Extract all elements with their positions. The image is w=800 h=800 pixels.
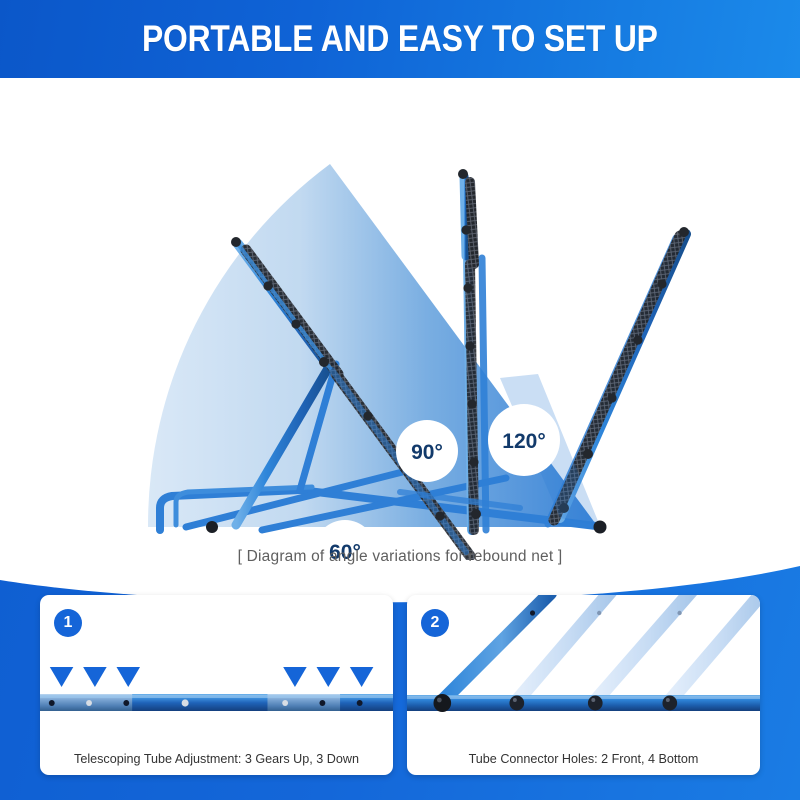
angle-badge-120-label: 120° <box>502 430 545 453</box>
angle-diagram: 60° 90° 120° <box>0 78 800 565</box>
panel-1-caption: Telescoping Tube Adjustment: 3 Gears Up,… <box>40 752 393 766</box>
feature-panels: 1 <box>0 595 800 775</box>
rebound-net-illustration: 60° 90° 120° <box>0 78 800 565</box>
telescoping-tube-art <box>40 595 393 725</box>
panel-2-badge: 2 <box>421 609 449 637</box>
panel-telescoping-tube[interactable]: 1 <box>40 595 393 775</box>
angle-badge-120: 120° <box>488 404 560 476</box>
panel-1-badge: 1 <box>54 609 82 637</box>
angle-badge-90: 90° <box>396 420 458 482</box>
header-banner: PORTABLE AND EASY TO SET UP <box>0 0 800 78</box>
infographic-page: PORTABLE AND EASY TO SET UP <box>0 0 800 800</box>
adjustment-markers <box>50 667 374 687</box>
panel-2-caption: Tube Connector Holes: 2 Front, 4 Bottom <box>407 752 760 766</box>
diagram-caption: [ Diagram of angle variations for reboun… <box>0 540 800 574</box>
panel-tube-connector[interactable]: 2 <box>407 595 760 775</box>
tube-connector-art <box>407 595 760 725</box>
page-title: PORTABLE AND EASY TO SET UP <box>142 18 658 60</box>
angle-badge-90-label: 90° <box>411 441 443 464</box>
diagram-caption-text: [ Diagram of angle variations for reboun… <box>238 548 563 566</box>
